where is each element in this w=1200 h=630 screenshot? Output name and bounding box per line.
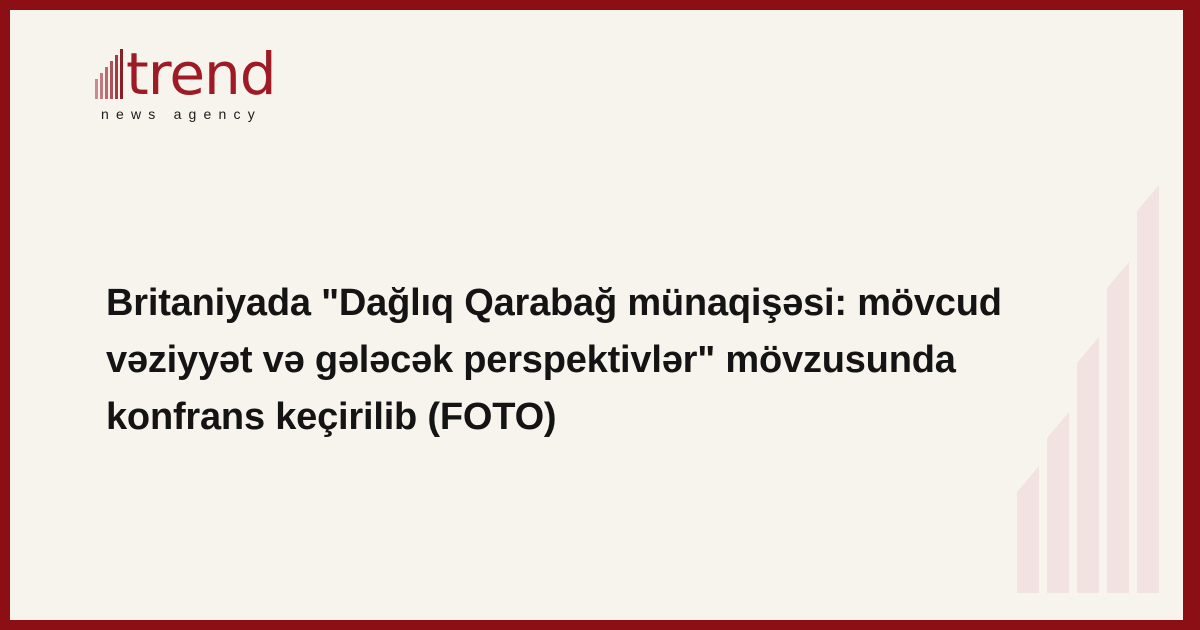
page-title: Britaniyada "Dağlıq Qarabağ münaqişəsi: …: [106, 275, 1016, 446]
decor-bar: [1137, 211, 1159, 593]
card-inner: trend news agency Britaniyada "Dağlıq Qa…: [10, 10, 1183, 620]
logo-bar: [120, 49, 123, 99]
logo-bar: [115, 55, 118, 99]
ascending-bars-decoration: [1017, 168, 1167, 593]
brand-logo[interactable]: trend news agency: [95, 44, 395, 122]
logo-top-row: trend: [95, 44, 395, 100]
logo-bar: [110, 61, 113, 99]
share-card: trend news agency Britaniyada "Dağlıq Qa…: [0, 0, 1200, 630]
logo-bar: [105, 67, 108, 99]
decor-bar: [1017, 492, 1039, 593]
decor-bar: [1047, 438, 1069, 593]
ascending-bars-icon: [95, 49, 123, 100]
logo-bar: [95, 79, 98, 99]
logo-bar: [100, 73, 103, 99]
decor-bar: [1107, 288, 1129, 593]
logo-tagline: news agency: [101, 106, 395, 122]
decor-bar: [1077, 363, 1099, 593]
logo-wordmark: trend: [126, 50, 276, 100]
